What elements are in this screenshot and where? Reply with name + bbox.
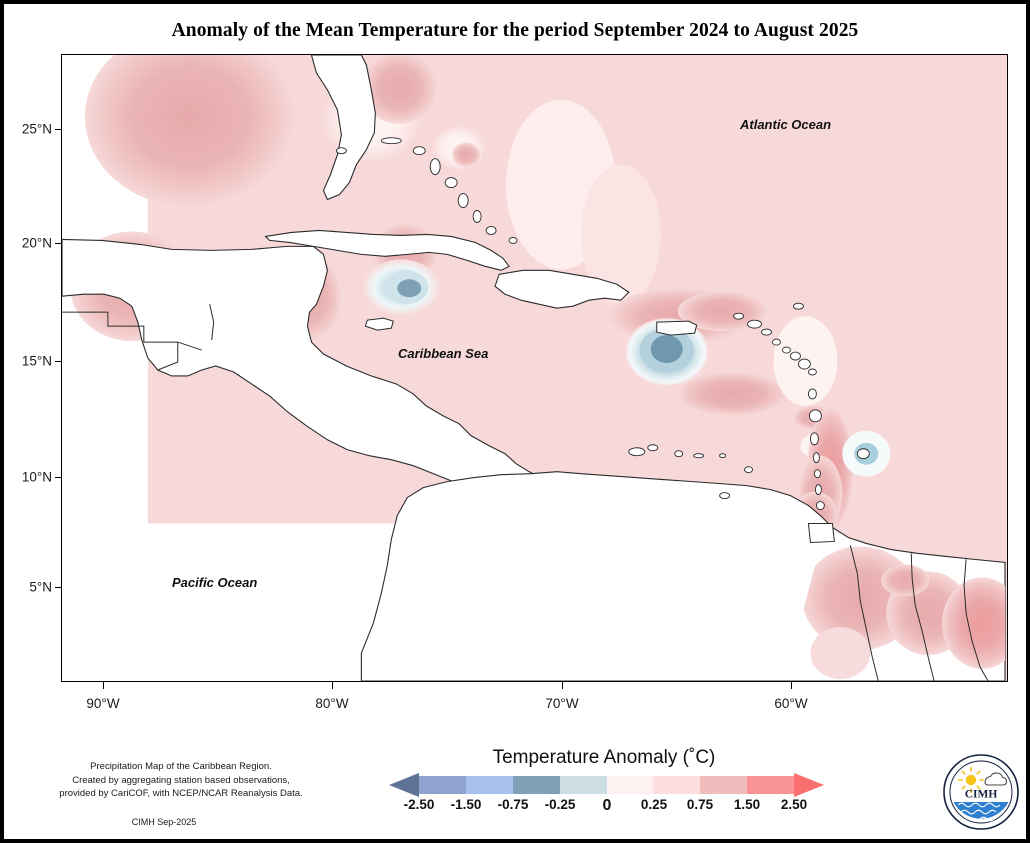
ytick-label-10n: 10°N bbox=[14, 470, 52, 485]
colorbar-tick-6: 0.75 bbox=[687, 797, 713, 812]
colorbar-tick-2: -0.75 bbox=[498, 797, 529, 812]
colorbar-swatches bbox=[419, 776, 794, 794]
map-plot-area: Atlantic Ocean Caribbean Sea Pacific Oce… bbox=[61, 54, 1008, 682]
land-trinidad bbox=[808, 524, 834, 543]
ytick-label-20n: 20°N bbox=[14, 236, 52, 251]
colorbar-tick-7: 1.50 bbox=[734, 797, 760, 812]
xtick-mark-90w bbox=[103, 682, 104, 689]
xtick-label-70w: 70°W bbox=[545, 696, 578, 711]
colorbar-tick-1: -1.50 bbox=[451, 797, 482, 812]
colorbar-swatch-6 bbox=[700, 776, 747, 794]
colorbar-tick-0: -2.50 bbox=[404, 797, 435, 812]
colorbar-over-arrow bbox=[794, 773, 824, 797]
credits-stamp: CIMH Sep-2025 bbox=[64, 817, 264, 827]
credits-line-2: Created by aggregating station based obs… bbox=[16, 774, 346, 788]
ytick-label-5n: 5°N bbox=[14, 580, 52, 595]
cool-anomaly-hispaniola-south-core bbox=[397, 279, 421, 297]
colorbar-tick-labels: -2.50 -1.50 -0.75 -0.25 0 0.25 0.75 1.50… bbox=[389, 797, 824, 815]
caribbean-sea-label: Caribbean Sea bbox=[398, 346, 488, 361]
xtick-label-80w: 80°W bbox=[315, 696, 348, 711]
colorbar-swatch-7 bbox=[747, 776, 794, 794]
xtick-mark-70w bbox=[562, 682, 563, 689]
pacific-ocean-label: Pacific Ocean bbox=[172, 575, 257, 590]
warm-anomaly-central-caribbean bbox=[678, 372, 788, 416]
ytick-label-25n: 25°N bbox=[14, 122, 52, 137]
colorbar-swatch-5 bbox=[653, 776, 700, 794]
warm-anomaly-bahamas-core bbox=[452, 143, 480, 167]
colorbar-swatch-0 bbox=[419, 776, 466, 794]
atlantic-ocean-label: Atlantic Ocean bbox=[740, 117, 831, 132]
page-title: Anomaly of the Mean Temperature for the … bbox=[4, 20, 1026, 42]
colorbar-under-arrow bbox=[389, 773, 419, 797]
xtick-mark-80w bbox=[332, 682, 333, 689]
colorbar-title: Temperature Anomaly (˚C) bbox=[404, 747, 804, 769]
colorbar bbox=[389, 773, 824, 797]
colorbar-tick-4: 0 bbox=[603, 797, 612, 815]
credits-line-3: provided by CariCOF, with NCEP/NCAR Rean… bbox=[16, 787, 346, 801]
xtick-label-90w: 90°W bbox=[86, 696, 119, 711]
colorbar-tick-8: 2.50 bbox=[781, 797, 807, 812]
logo-text: CIMH bbox=[965, 789, 998, 801]
xtick-mark-60w bbox=[791, 682, 792, 689]
cimh-logo: CIMH bbox=[941, 752, 1021, 832]
ytick-label-15n: 15°N bbox=[14, 354, 52, 369]
colorbar-swatch-1 bbox=[466, 776, 513, 794]
colorbar-swatch-2 bbox=[513, 776, 560, 794]
colorbar-swatch-3 bbox=[560, 776, 607, 794]
credits-block: Precipitation Map of the Caribbean Regio… bbox=[16, 760, 346, 801]
xtick-label-60w: 60°W bbox=[774, 696, 807, 711]
map-figure: Anomaly of the Mean Temperature for the … bbox=[0, 0, 1030, 843]
land-puerto-rico bbox=[657, 321, 697, 335]
colorbar-swatch-4 bbox=[607, 776, 654, 794]
colorbar-tick-3: -0.25 bbox=[545, 797, 576, 812]
colorbar-tick-5: 0.25 bbox=[641, 797, 667, 812]
cool-anomaly-puerto-rico-core bbox=[651, 335, 683, 363]
credits-line-1: Precipitation Map of the Caribbean Regio… bbox=[16, 760, 346, 774]
